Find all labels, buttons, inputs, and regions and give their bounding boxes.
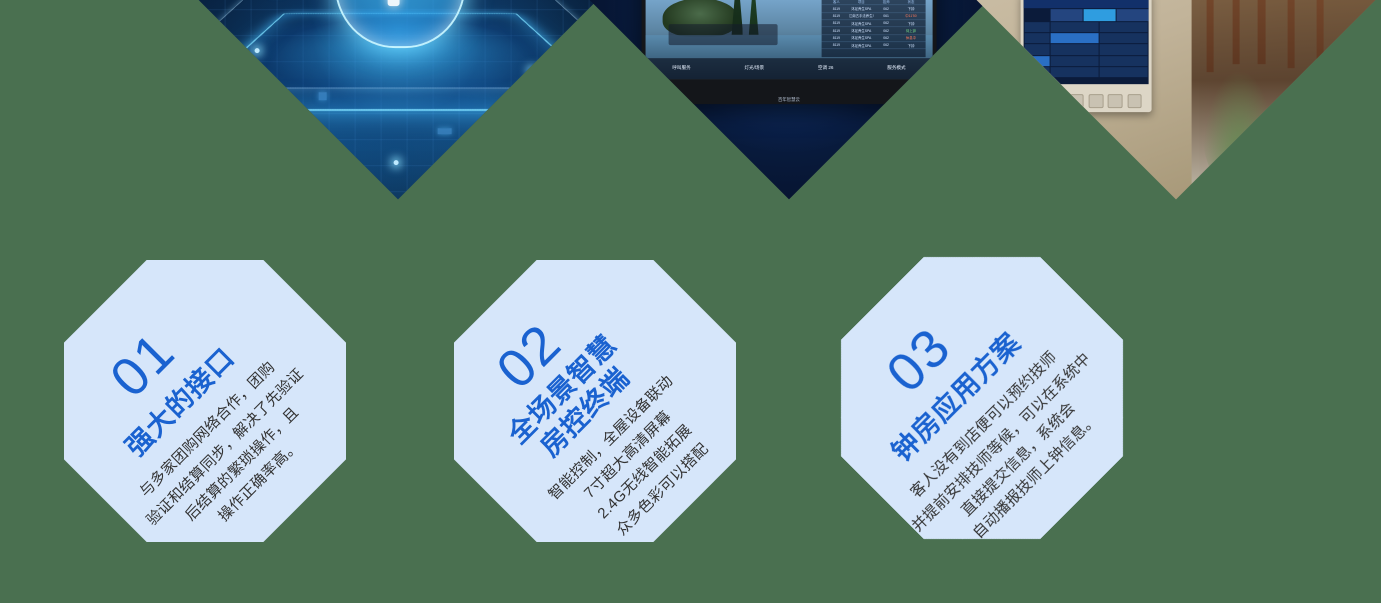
- cell-guest: 8119: [824, 13, 849, 17]
- panel-hardware-button[interactable]: [1089, 94, 1104, 108]
- table-row: 8119 沐足养生SPA 062 休息中: [822, 34, 925, 41]
- panel-hardware-button[interactable]: [1050, 94, 1065, 108]
- panel-list-right[interactable]: [1100, 22, 1148, 77]
- panel-list-left[interactable]: [1051, 22, 1099, 77]
- panel-list-item[interactable]: [1051, 55, 1099, 65]
- card-title-line: 钟房应用方案: [886, 327, 1028, 469]
- feature-card-03-surface: 03 钟房应用方案 客人没有到店便可以预约技师 并提前安排技师等候，可以在系统中…: [841, 257, 1123, 539]
- panel-tab[interactable]: [1117, 8, 1149, 20]
- table-header-cell: 技师: [874, 0, 899, 3]
- card-desc-line: 操作正确率高。: [175, 397, 344, 566]
- chip-block: [438, 128, 452, 134]
- card-desc-line: 7寸超大高清屏幕: [560, 387, 696, 523]
- panel-hardware-button[interactable]: [1108, 94, 1123, 108]
- spark-dot: [530, 68, 535, 73]
- card-title-line: 房控终端: [525, 352, 647, 474]
- card-title: 全场景智慧 房控终端: [502, 329, 647, 474]
- card-title-line: 全场景智慧: [502, 329, 624, 451]
- panel-side-button-selected[interactable]: [1025, 55, 1050, 65]
- panel-hardware-button[interactable]: [1069, 94, 1084, 108]
- table-header-cell: 项目: [849, 0, 874, 3]
- panel-list-item[interactable]: [1051, 66, 1099, 76]
- wood-slat: [1287, 0, 1294, 68]
- panel-hardware-buttons[interactable]: [1028, 91, 1144, 110]
- card-desc-line: 验证和结算同步，解决了先验证: [141, 363, 310, 532]
- wall-control-panel[interactable]: [1020, 0, 1152, 112]
- panel-tab[interactable]: [1051, 8, 1083, 20]
- room-photo-artwork: [977, 0, 1376, 199]
- cell-service: 沐足养生SPA: [849, 42, 874, 47]
- panel-list-item[interactable]: [1051, 44, 1099, 54]
- card-title: 钟房应用方案: [886, 327, 1028, 469]
- card-description: 客人没有到店便可以预约技师 并提前安排技师等候，可以在系统中 直接提交信息，系统…: [889, 330, 1131, 572]
- cell-guest: 8119: [824, 43, 849, 47]
- feature-card-03-content: 03 钟房应用方案 客人没有到店便可以预约技师 并提前安排技师等候，可以在系统中…: [783, 206, 1182, 597]
- cell-tech: 062: [874, 35, 899, 39]
- cell-service: 沐足养生SPA: [849, 28, 874, 33]
- cell-guest: 8119: [824, 28, 849, 32]
- cell-status: 下钟: [899, 42, 924, 47]
- panel-hardware-button[interactable]: [1127, 94, 1142, 108]
- panel-tab-selected[interactable]: [1084, 8, 1116, 20]
- cell-tech: 062: [874, 21, 899, 25]
- cell-guest: 8119: [824, 35, 849, 39]
- table-row: 8119 沐足养生SPA 062 待上钟: [822, 27, 925, 34]
- feature-card-02-surface: 02 全场景智慧 房控终端 智能控制，全屋设备联动 7寸超大高清屏幕 2.4G无…: [454, 260, 736, 542]
- control-button-light[interactable]: 灯光/场景: [744, 65, 764, 71]
- panel-list-item[interactable]: [1100, 44, 1148, 54]
- plant-foliage: [1203, 72, 1276, 192]
- feature-card-02: 02 全场景智慧 房控终端 智能控制，全屋设备联动 7寸超大高清屏幕 2.4G无…: [396, 202, 795, 601]
- card-desc-line: 直接提交信息，系统会: [924, 365, 1114, 555]
- card-desc-line: 后结算的繁琐操作，且: [158, 380, 327, 549]
- control-button-ac[interactable]: 空调 26: [818, 65, 834, 71]
- card-desc-line: 智能控制，全屋设备联动: [543, 370, 679, 506]
- cyber-shield-artwork: [199, 0, 598, 199]
- window-partition-area: [1192, 0, 1375, 199]
- media-control-bar[interactable]: [668, 24, 777, 45]
- control-terminal-device: CSIZBO 22:35 SPA6房 19°C 11/24 客人: [641, 0, 936, 104]
- panel-list-item-selected[interactable]: [1051, 33, 1099, 43]
- panel-list-item[interactable]: [1100, 33, 1148, 43]
- card-image-smart-panel: CSIZBO 22:35 SPA6房 19°C 11/24 客人: [590, 0, 989, 199]
- table-header-row: 客人 项目 技师 状态: [822, 0, 925, 5]
- card-desc-line: 客人没有到店便可以预约技师: [889, 330, 1079, 520]
- cell-service: 江南古手法养生SPA: [849, 13, 874, 18]
- device-brand-label: 百年智慧云: [641, 97, 936, 103]
- table-header-cell: 状态: [899, 0, 924, 3]
- card-number: 03: [877, 318, 960, 401]
- panel-side-button[interactable]: [1025, 66, 1050, 76]
- panel-side-buttons[interactable]: [1025, 22, 1050, 77]
- card-title: 强大的接口: [119, 341, 241, 463]
- feature-card-01-content: 01 强大的接口 与多家团购网络合作，团购 验证和结算同步，解决了先验证 后结算…: [6, 209, 405, 600]
- panel-side-button[interactable]: [1025, 22, 1050, 32]
- table-row: 8119 沐足养生SPA 062 下钟: [822, 42, 925, 49]
- card-desc-line: 众多色彩可以搭配: [595, 422, 731, 558]
- promo-banner: CSIZBO 22:35 SPA6房 19°C 11/24 客人: [0, 0, 1381, 603]
- cell-service: 沐足养生SPA: [849, 35, 874, 40]
- card-description: 与多家团购网络合作，团购 验证和结算同步，解决了先验证 后结算的繁琐操作，且 操…: [124, 346, 344, 566]
- table-row: 8119 沐足养生SPA 062 下钟: [822, 5, 925, 12]
- panel-side-button[interactable]: [1025, 33, 1050, 43]
- cell-status: 下钟: [899, 6, 924, 11]
- panel-hardware-button[interactable]: [1031, 94, 1046, 108]
- table-row: 8119 江南古手法养生SPA 061 中11'50: [822, 12, 925, 19]
- wood-slat: [1232, 0, 1239, 64]
- control-button-service-mode[interactable]: 服务模式: [887, 65, 905, 71]
- screen-control-bar: 呼叫服务 灯光/场景 空调 26 服务模式: [645, 58, 932, 79]
- card-desc-line: 并提前安排技师等候，可以在系统中: [907, 348, 1097, 538]
- cell-status: 下钟: [899, 20, 924, 25]
- feature-card-02-content: 02 全场景智慧 房控终端 智能控制，全屋设备联动 7寸超大高清屏幕 2.4G无…: [396, 208, 795, 601]
- table-header-cell: 客人: [824, 0, 849, 3]
- spark-dot: [254, 48, 259, 53]
- panel-list-item[interactable]: [1100, 22, 1148, 32]
- wood-slat: [1207, 0, 1214, 72]
- panel-list-item[interactable]: [1100, 55, 1148, 65]
- card-number: 01: [101, 323, 184, 406]
- wood-slat: [1258, 0, 1265, 64]
- smart-panel-artwork: CSIZBO 22:35 SPA6房 19°C 11/24 客人: [590, 0, 989, 199]
- device-screen: 22:35 SPA6房 19°C 11/24 客人 项目 技师 状态 8119: [645, 0, 932, 78]
- panel-list-item[interactable]: [1051, 22, 1099, 32]
- card-image-room-panel: [977, 0, 1376, 199]
- feature-card-01: 01 强大的接口 与多家团购网络合作，团购 验证和结算同步，解决了先验证 后结算…: [6, 202, 405, 601]
- feature-card-01-surface: 01 强大的接口 与多家团购网络合作，团购 验证和结算同步，解决了先验证 后结算…: [64, 260, 346, 542]
- cell-status: 中11'50: [899, 13, 924, 18]
- service-table: 客人 项目 技师 状态 8119 沐足养生SPA 062 下钟 8119: [822, 0, 925, 56]
- cell-status: 待上钟: [899, 28, 924, 33]
- plant-foliage: [1254, 96, 1335, 200]
- panel-list-item[interactable]: [1100, 66, 1148, 76]
- panel-title-bar: [1023, 0, 1149, 7]
- panel-tabs[interactable]: [1051, 8, 1149, 20]
- panel-side-button[interactable]: [1025, 44, 1050, 54]
- card-number: 02: [487, 314, 570, 397]
- cell-guest: 8119: [824, 6, 849, 10]
- control-button-call[interactable]: 呼叫服务: [672, 65, 690, 71]
- cell-tech: 062: [874, 43, 899, 47]
- cell-tech: 062: [874, 6, 899, 10]
- card-title-line: 强大的接口: [119, 341, 241, 463]
- card-image-cyber-shield: [199, 0, 598, 199]
- feature-card-03: 03 钟房应用方案 客人没有到店便可以预约技师 并提前安排技师等候，可以在系统中…: [783, 199, 1182, 598]
- table-row: 8119 沐足养生SPA 062 下钟: [822, 20, 925, 27]
- card-description: 智能控制，全屋设备联动 7寸超大高清屏幕 2.4G无线智能拓展 众多色彩可以搭配: [543, 370, 731, 558]
- chip-block: [318, 92, 326, 100]
- cell-tech: 061: [874, 13, 899, 17]
- cell-guest: 8119: [824, 21, 849, 25]
- card-desc-line: 2.4G无线智能拓展: [577, 404, 713, 540]
- card-desc-line: 与多家团购网络合作，团购: [124, 346, 293, 515]
- cell-status: 休息中: [899, 35, 924, 40]
- cell-service: 沐足养生SPA: [849, 6, 874, 11]
- panel-screen: [1023, 0, 1149, 84]
- wood-slat: [1317, 0, 1324, 76]
- card-desc-line: 自动播报技师上钟信息。: [941, 382, 1131, 572]
- cell-tech: 062: [874, 28, 899, 32]
- cell-service: 沐足养生SPA: [849, 20, 874, 25]
